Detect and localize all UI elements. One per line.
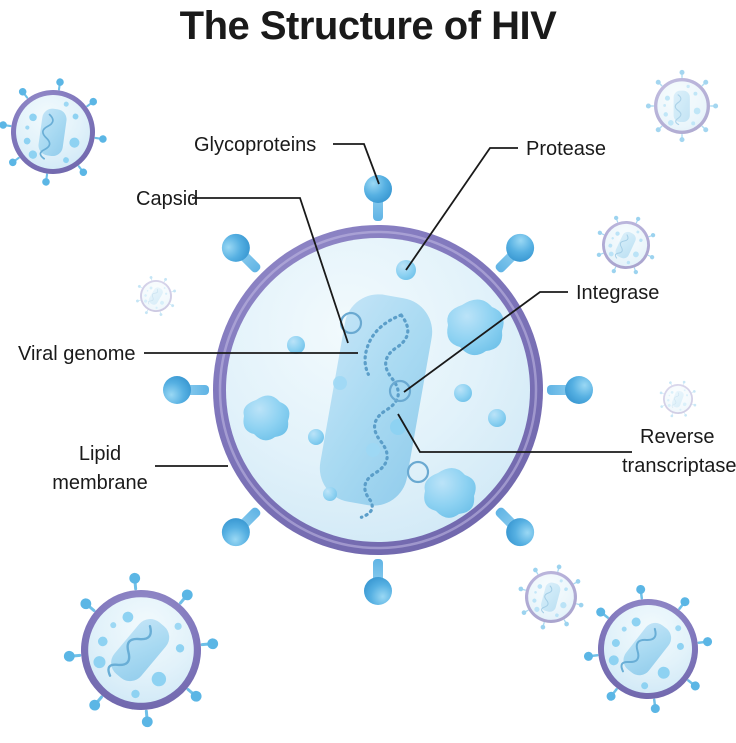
interior-blob	[308, 429, 324, 445]
decorative-virion-bottom-mid	[510, 556, 592, 638]
label-reverse-transcriptase: Reverse transcriptase	[622, 426, 736, 477]
interior-blob	[454, 384, 472, 402]
label-glycoproteins: Glycoproteins	[194, 134, 316, 156]
label-lipid-membrane-line1: Lipid	[79, 443, 121, 465]
label-protease: Protease	[526, 138, 606, 160]
decorative-virion-top-left	[0, 71, 114, 193]
interior-blob	[323, 487, 337, 501]
label-integrase: Integrase	[576, 282, 659, 304]
glycoprotein-spike	[364, 559, 392, 605]
hiv-structure-diagram: The Structure of HIV	[0, 0, 736, 743]
interior-blob	[488, 409, 506, 427]
label-reverse-transcriptase-line2: transcriptase	[622, 455, 736, 477]
label-reverse-transcriptase-line1: Reverse	[640, 426, 714, 448]
glycoprotein-spike	[488, 228, 540, 280]
label-viral-genome: Viral genome	[18, 343, 135, 365]
decorative-virion-top-right	[646, 70, 718, 142]
label-lipid-membrane: Lipid membrane	[52, 443, 148, 494]
reverse-transcriptase-dot	[390, 419, 406, 435]
decorative-virion-bottom-left	[32, 541, 250, 743]
main-virion	[163, 175, 593, 605]
decorative-virion-mid-left-tiny	[128, 268, 184, 324]
glycoprotein-spike	[216, 228, 268, 280]
decorative-virion-mid-right	[585, 204, 667, 286]
decorative-virion-right-tiny	[653, 374, 703, 424]
interior-blob	[287, 336, 305, 354]
glycoprotein-spike	[547, 376, 593, 404]
glycoprotein-spike	[163, 376, 209, 404]
diagram-canvas: Glycoproteins Capsid Protease Integrase …	[0, 0, 736, 743]
decorative-virion-bottom-right	[557, 558, 736, 739]
label-capsid: Capsid	[136, 188, 198, 210]
glycoprotein-spike	[216, 500, 268, 552]
label-lipid-membrane-line2: membrane	[52, 472, 148, 494]
glycoprotein-spike	[488, 500, 540, 552]
